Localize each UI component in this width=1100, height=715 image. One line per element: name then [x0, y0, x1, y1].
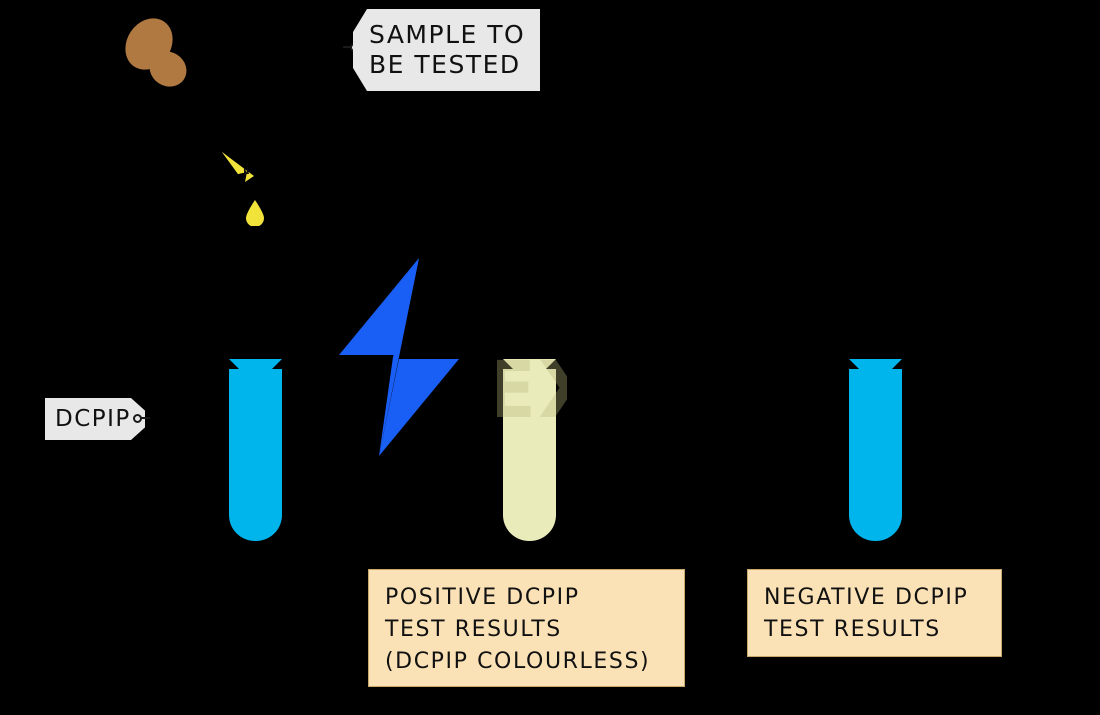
- positive-result-caption: POSITIVE DCPIP TEST RESULTS (DCPIP COLOU…: [368, 569, 685, 687]
- test-tube-negative-result: [849, 359, 902, 541]
- tube-rim-left: [849, 359, 859, 369]
- diagram-canvas: SAMPLE TO BE TESTED DCPIP EX POSITIVE DC…: [0, 0, 1100, 715]
- sample-to-be-tested-label: SAMPLE TO BE TESTED: [353, 9, 540, 91]
- dcpip-tag-string: [141, 417, 150, 419]
- test-tube-dcpip: [229, 359, 282, 541]
- negative-result-caption: NEGATIVE DCPIP TEST RESULTS: [747, 569, 1002, 657]
- lightning-bolt-arrow-icon: [336, 256, 462, 458]
- tube-rim-right: [546, 359, 556, 369]
- test-tube-positive-result: [503, 359, 556, 541]
- dcpip-label: DCPIP: [45, 398, 145, 440]
- dropper-pipette-icon: [220, 148, 264, 188]
- tube-rim-right: [272, 359, 282, 369]
- potato-sample-icon: [118, 18, 196, 90]
- liquid-droplet-icon: [245, 200, 265, 226]
- tube-rim-left: [229, 359, 239, 369]
- tube-rim-left: [503, 359, 513, 369]
- tube-rim-right: [892, 359, 902, 369]
